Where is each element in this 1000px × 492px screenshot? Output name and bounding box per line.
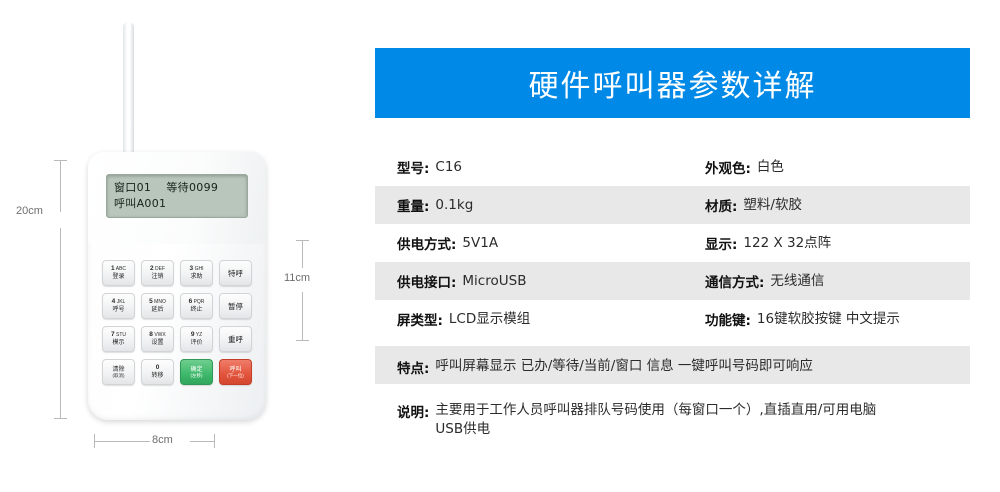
- key-0[interactable]: 0 转移: [141, 359, 174, 385]
- height-dimension-line-lower: [60, 228, 61, 418]
- key-2[interactable]: 2 DEF 注销: [141, 260, 174, 286]
- spec-value-model: C16: [435, 158, 462, 177]
- key-8-label: 设置: [151, 340, 163, 346]
- depth-dimension-line-bottom: [302, 292, 303, 340]
- spec-label-color: 外观色:: [705, 157, 751, 177]
- height-dimension-tick-top: [54, 160, 67, 161]
- spec-value-function-keys: 16键软胶按键 中文提示: [757, 310, 900, 329]
- width-dimension-label: 8cm: [152, 434, 173, 446]
- key-6[interactable]: 6 PQR 终止: [180, 293, 213, 319]
- key-1-label: 登录: [112, 274, 124, 280]
- key-1-number: 1 ABC: [111, 266, 126, 273]
- key-4-number: 4 JKL: [112, 299, 126, 306]
- key-3-label: 求助: [190, 274, 202, 280]
- key-recall[interactable]: 重呼: [219, 326, 252, 352]
- key-8-number: 8 VWX: [149, 332, 165, 339]
- spec-value-features: 呼叫屏幕显示 已办/等待/当前/窗口 信息 一键呼叫号码即可响应: [435, 357, 813, 376]
- spec-label-weight: 重量:: [397, 195, 429, 215]
- key-6-number: 6 PQR: [189, 299, 205, 306]
- spec-value-description: 主要用于工作人员呼叫器排队号码使用（每窗口一个）,直插直用/可用电脑 USB供电: [435, 401, 876, 439]
- key-call[interactable]: 呼叫 (下一位): [219, 359, 252, 385]
- key-8[interactable]: 8 VWX 设置: [141, 326, 174, 352]
- spec-value-material: 塑料/软胶: [743, 196, 802, 215]
- key-0-number: 0: [156, 365, 160, 372]
- spec-title-banner: 硬件呼叫器参数详解: [375, 48, 970, 118]
- specification-panel: 硬件呼叫器参数详解 型号: C16 外观色: 白色 重量: 0.1kg 材质: …: [375, 0, 973, 492]
- key-3-number: 3 GHI: [190, 266, 204, 273]
- spec-cell-weight: 重量: 0.1kg: [397, 186, 705, 224]
- key-recall-label: 重呼: [228, 336, 243, 344]
- spec-label-material: 材质:: [705, 195, 737, 215]
- height-dimension-line: [60, 160, 61, 212]
- spec-cell-description: 说明: 主要用于工作人员呼叫器排队号码使用（每窗口一个）,直插直用/可用电脑 U…: [397, 390, 970, 439]
- key-4[interactable]: 4 JKL 呼号: [102, 293, 135, 319]
- key-7-label: 模示: [112, 340, 124, 346]
- spec-label-display: 显示:: [705, 233, 737, 253]
- lcd-line-2: 呼叫A001: [114, 196, 240, 212]
- spec-value-color: 白色: [757, 158, 784, 177]
- key-4-label: 呼号: [112, 307, 124, 313]
- spec-label-description: 说明:: [397, 401, 429, 421]
- spec-row-model: 型号: C16 外观色: 白色: [375, 148, 970, 186]
- spec-cell-features: 特点: 呼叫屏幕显示 已办/等待/当前/窗口 信息 一键呼叫号码即可响应: [397, 346, 970, 377]
- key-0-label: 转移: [151, 373, 163, 379]
- spec-row-screen-type: 屏类型: LCD显示模组 功能键: 16键软胶按键 中文提示: [375, 300, 970, 338]
- key-confirm-sublabel: (左移): [191, 374, 203, 379]
- spec-cell-communication: 通信方式: 无线通信: [705, 262, 970, 300]
- spec-label-screen-type: 屏类型:: [397, 309, 443, 329]
- spec-label-features: 特点:: [397, 357, 429, 377]
- depth-dimension-line-top: [302, 240, 303, 268]
- spec-value-display: 122 X 32点阵: [743, 234, 831, 253]
- spec-row-power-interface: 供电接口: MicroUSB 通信方式: 无线通信: [375, 262, 970, 300]
- depth-dimension-label: 11cm: [284, 272, 310, 284]
- spec-cell-model: 型号: C16: [397, 148, 705, 186]
- spec-label-model: 型号:: [397, 157, 429, 177]
- width-dimension-line-right: [190, 441, 215, 442]
- spec-cell-power-interface: 供电接口: MicroUSB: [397, 262, 705, 300]
- key-7-number: 7 STU: [111, 332, 126, 339]
- spec-value-communication: 无线通信: [770, 272, 824, 291]
- key-9-number: 9 YZ: [191, 332, 202, 339]
- key-2-label: 注销: [151, 274, 163, 280]
- key-special-call[interactable]: 特呼: [219, 260, 252, 286]
- spec-cell-screen-type: 屏类型: LCD显示模组: [397, 300, 705, 338]
- key-5[interactable]: 5 MNO 延后: [141, 293, 174, 319]
- key-clear[interactable]: 清除 (取消): [102, 359, 135, 385]
- spec-cell-material: 材质: 塑料/软胶: [705, 186, 970, 224]
- spec-row-description: 说明: 主要用于工作人员呼叫器排队号码使用（每窗口一个）,直插直用/可用电脑 U…: [375, 390, 970, 442]
- width-dimension-line-left: [94, 441, 150, 442]
- key-2-number: 2 DEF: [150, 266, 165, 273]
- product-photo-panel: 20cm 11cm 8cm 窗口01 等待0099 呼叫A001 1 ABC 登…: [0, 0, 352, 492]
- lcd-screen: 窗口01 等待0099 呼叫A001: [106, 174, 248, 218]
- key-special-call-label: 特呼: [228, 270, 243, 278]
- spec-row-features: 特点: 呼叫屏幕显示 已办/等待/当前/窗口 信息 一键呼叫号码即可响应: [375, 346, 970, 384]
- depth-dimension-tick-top: [296, 240, 309, 241]
- height-dimension-label: 20cm: [16, 205, 43, 217]
- spec-value-weight: 0.1kg: [435, 196, 473, 215]
- spec-cell-function-keys: 功能键: 16键软胶按键 中文提示: [705, 300, 970, 338]
- spec-row-power-supply: 供电方式: 5V1A 显示: 122 X 32点阵: [375, 224, 970, 262]
- key-pause-label: 暂停: [228, 303, 243, 311]
- caller-device-body: 窗口01 等待0099 呼叫A001 1 ABC 登录 2 DEF 注销 3 G…: [88, 152, 266, 420]
- spec-label-function-keys: 功能键:: [705, 309, 751, 329]
- key-5-number: 5 MNO: [149, 299, 166, 306]
- spec-cell-power-supply: 供电方式: 5V1A: [397, 224, 705, 262]
- spec-label-power-interface: 供电接口:: [397, 271, 456, 291]
- key-call-sublabel: (下一位): [227, 374, 244, 379]
- spec-value-screen-type: LCD显示模组: [449, 310, 530, 329]
- lcd-line-1: 窗口01 等待0099: [114, 180, 240, 196]
- key-1[interactable]: 1 ABC 登录: [102, 260, 135, 286]
- depth-dimension-tick-bottom: [296, 340, 309, 341]
- spec-label-communication: 通信方式:: [705, 271, 764, 291]
- antenna: [123, 22, 134, 158]
- key-clear-sublabel: (取消): [113, 374, 125, 379]
- key-9-label: 评价: [190, 340, 202, 346]
- spec-label-power-supply: 供电方式:: [397, 233, 456, 253]
- key-5-label: 延后: [151, 307, 163, 313]
- key-6-label: 终止: [190, 307, 202, 313]
- spec-table: 型号: C16 外观色: 白色 重量: 0.1kg 材质: 塑料/软胶 供电方式…: [375, 148, 970, 442]
- spec-cell-color: 外观色: 白色: [705, 148, 970, 186]
- key-pause[interactable]: 暂停: [219, 293, 252, 319]
- key-7[interactable]: 7 STU 模示: [102, 326, 135, 352]
- keypad: 1 ABC 登录 2 DEF 注销 3 GHI 求助 特呼: [102, 260, 252, 385]
- spec-value-power-interface: MicroUSB: [462, 272, 526, 291]
- key-confirm[interactable]: 确定 (左移): [180, 359, 213, 385]
- spec-cell-display: 显示: 122 X 32点阵: [705, 224, 970, 262]
- width-dimension-tick-right: [214, 434, 215, 448]
- spec-value-power-supply: 5V1A: [462, 234, 498, 253]
- spec-title-text: 硬件呼叫器参数详解: [529, 61, 817, 105]
- height-dimension-tick-bottom: [54, 418, 67, 419]
- key-9[interactable]: 9 YZ 评价: [180, 326, 213, 352]
- width-dimension-tick-left: [94, 434, 95, 448]
- key-3[interactable]: 3 GHI 求助: [180, 260, 213, 286]
- spec-row-weight: 重量: 0.1kg 材质: 塑料/软胶: [375, 186, 970, 224]
